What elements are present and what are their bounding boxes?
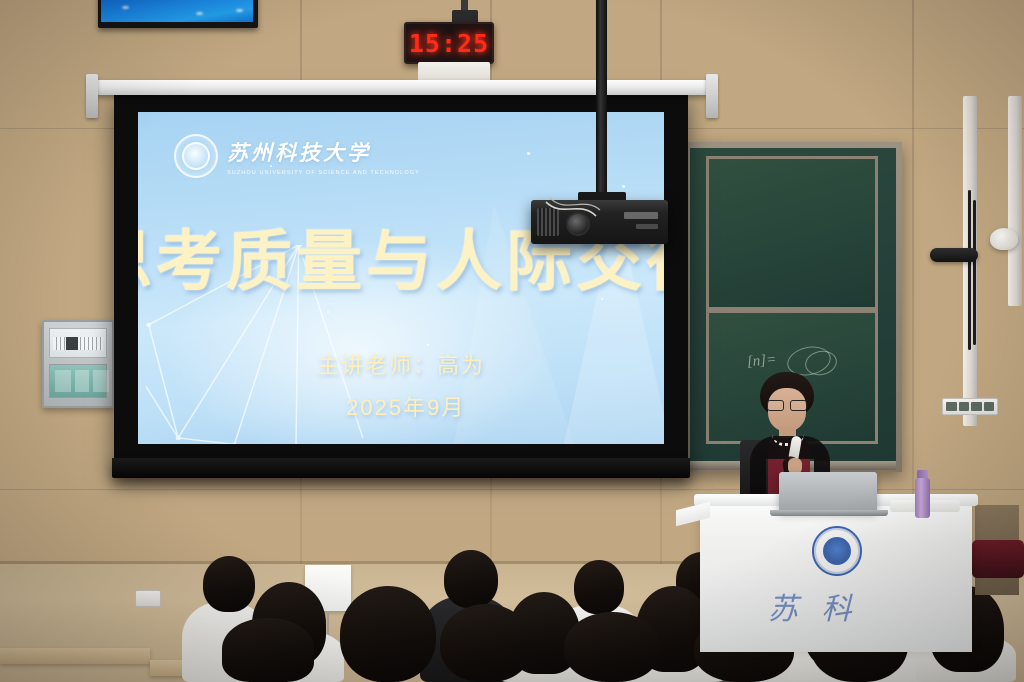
light-switch[interactable]	[971, 402, 982, 411]
chalkboard-upper-panel	[706, 156, 878, 310]
audience-head	[444, 550, 498, 608]
laptop-base	[770, 510, 888, 516]
podium: 苏 科	[700, 502, 972, 652]
glasses-lens	[767, 400, 784, 411]
slide-star	[527, 152, 530, 155]
wall-power-outlet[interactable]	[135, 590, 161, 607]
projection-screen-housing	[96, 80, 708, 95]
breaker-window	[49, 328, 107, 358]
slide-university-logo: 苏州科技大学 SUZHOU UNIVERSITY OF SCIENCE AND …	[174, 134, 420, 178]
projector-cable	[540, 196, 604, 236]
wall-monitor-screen	[101, 0, 253, 22]
slide-star	[622, 185, 625, 188]
wall-conduit	[1008, 96, 1022, 306]
monitor-glint	[236, 9, 243, 12]
slide-date-line: 2025年9月	[346, 390, 465, 422]
screen-weight-bar	[112, 458, 690, 478]
wall-cable	[973, 200, 976, 345]
lecture-hall-photo: 15:25	[0, 0, 1024, 682]
wall-digital-clock: 15:25	[404, 22, 494, 64]
light-switch[interactable]	[946, 402, 957, 411]
projector-mount-pole	[596, 0, 607, 201]
audience-head-front	[440, 604, 532, 682]
university-name-cn: 苏州科技大学	[227, 137, 420, 167]
handbag	[972, 540, 1024, 578]
podium-calligraphy: 苏 科	[768, 584, 860, 628]
panel-cell	[55, 370, 71, 392]
housing-bracket-left	[86, 74, 98, 118]
wall-speaker	[930, 248, 978, 262]
audience-head	[574, 560, 624, 614]
projector-label	[624, 212, 658, 219]
main-breaker[interactable]	[66, 337, 78, 350]
seal-inner	[823, 537, 851, 565]
presenter-laptop[interactable]	[779, 472, 877, 512]
breaker-panel[interactable]	[42, 320, 114, 408]
audience-head-front	[340, 586, 436, 682]
wall-monitor	[98, 0, 258, 28]
audience-head-front	[222, 618, 314, 682]
university-logo-icon	[174, 134, 218, 178]
glasses-icon	[767, 400, 807, 409]
panel-cell	[93, 370, 109, 392]
chalk-writing: [n]=	[746, 352, 777, 371]
monitor-glint	[196, 12, 203, 15]
audience-head-front	[564, 612, 660, 682]
wall-lamp-icon	[990, 228, 1018, 250]
presentation-slide: 苏州科技大学 SUZHOU UNIVERSITY OF SCIENCE AND …	[138, 112, 664, 444]
university-name-en: SUZHOU UNIVERSITY OF SCIENCE AND TECHNOL…	[227, 170, 420, 176]
panel-lower-window	[49, 364, 107, 398]
light-switch[interactable]	[959, 402, 970, 411]
slide-presenter-line: 主讲老师：高为	[317, 348, 485, 380]
panel-cell	[75, 370, 89, 392]
clock-time-display: 15:25	[409, 29, 489, 58]
audience-head	[203, 556, 255, 612]
desk-row	[0, 648, 150, 664]
wall-cable	[968, 190, 971, 350]
glasses-lens	[790, 400, 807, 411]
sign-stand	[327, 611, 329, 637]
logo-inner-ring	[182, 142, 210, 170]
light-switch[interactable]	[984, 402, 995, 411]
university-seal-icon	[812, 526, 862, 576]
light-switch-plate[interactable]	[942, 398, 998, 415]
breaker-switches[interactable]	[53, 337, 103, 350]
water-bottle	[915, 478, 930, 518]
projector-label	[636, 224, 658, 229]
monitor-glint	[122, 6, 129, 9]
housing-bracket-right	[706, 74, 718, 118]
